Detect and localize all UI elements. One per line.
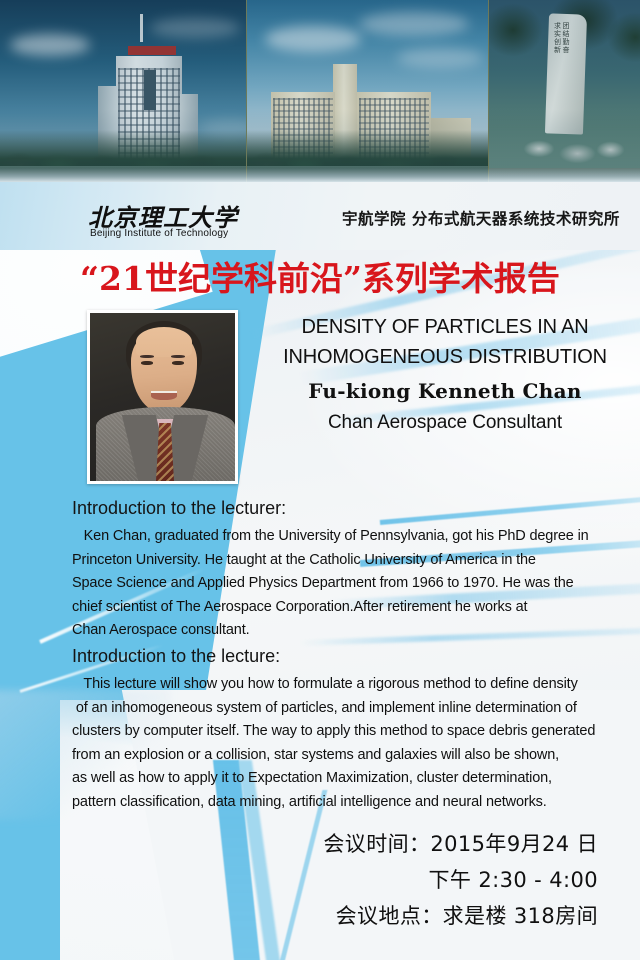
campus-photo-banner: 团结勤奋 求实创新 [0, 0, 640, 182]
block-annex [431, 118, 471, 174]
lecture-abstract-line: clusters by computer itself. The way to … [72, 720, 632, 744]
lecture-abstract-line: This lecture will show you how to formul… [72, 673, 632, 697]
portrait-forehead [136, 327, 192, 357]
series-title: “21世纪学科前沿”系列学术报告 [0, 252, 640, 300]
lecture-abstract-line: as well as how to apply it to Expectatio… [72, 767, 632, 791]
tower-wing-right [180, 94, 198, 172]
block-windows-left [273, 98, 333, 170]
pine-trees [489, 0, 640, 114]
teaching-block-center [333, 64, 357, 174]
lecture-introduction-section: Introduction to the lecture: This lectur… [72, 644, 632, 814]
lecturer-introduction-heading: Introduction to the lecturer: [72, 496, 632, 520]
meeting-location: 会议地点：求是楼 318房间 [323, 898, 598, 934]
tower-core-slot [144, 70, 156, 110]
speaker-affiliation: Chan Aerospace Consultant [250, 408, 640, 438]
lecturer-introduction-section: Introduction to the lecturer: Ken Chan, … [72, 496, 632, 643]
teaching-block-left-wing [271, 92, 335, 174]
lecturer-bio-line: Princeton University. He taught at the C… [72, 549, 632, 573]
block-windows-right [359, 98, 429, 170]
portrait-brow-right [171, 355, 185, 358]
speaker-portrait [87, 310, 238, 484]
teaching-block-right-wing [357, 92, 431, 174]
lecturer-bio-line: Space Science and Applied Physics Depart… [72, 572, 632, 596]
lecturer-bio-line: Chan Aerospace consultant. [72, 619, 632, 643]
cloud-icon [200, 120, 247, 136]
sky-background [247, 0, 488, 182]
lecture-abstract-line: from an explosion or a collision, star s… [72, 744, 632, 768]
campus-photo-teaching-block [247, 0, 489, 182]
university-name-en: Beijing Institute of Technology [90, 228, 228, 239]
lecture-introduction-heading: Introduction to the lecture: [72, 644, 632, 668]
portrait-smile [151, 391, 177, 400]
talk-title-block: DENSITY OF PARTICLES IN AN INHOMOGENEOUS… [250, 312, 640, 438]
sky-background [489, 0, 640, 182]
speaker-name: Fu-kiong Kenneth Chan [250, 374, 640, 408]
antenna-mast [140, 14, 143, 42]
meeting-details: 会议时间：2015年9月24 日 下午 2:30 - 4:00 会议地点：求是楼… [323, 826, 598, 934]
campus-photo-monument: 团结勤奋 求实创新 [489, 0, 640, 182]
lecture-abstract-line: pattern classification, data mining, art… [72, 791, 632, 815]
talk-title-line-1: DENSITY OF PARTICLES IN AN [250, 312, 640, 342]
lecturer-bio-line: chief scientist of The Aerospace Corpora… [72, 596, 632, 620]
motto-monument-stone [545, 13, 587, 134]
seminar-poster: 团结勤奋 求实创新 北京理工大学 BEIJING INSTITUTE OF TE… [0, 0, 640, 960]
talk-title-line-2: INHOMOGENEOUS DISTRIBUTION [250, 342, 640, 372]
cloud-icon [359, 12, 469, 36]
rock-base [517, 120, 627, 168]
meeting-time-range: 下午 2:30 - 4:00 [323, 862, 598, 898]
cloud-icon [150, 18, 240, 38]
lecture-abstract-line: of an inhomogeneous system of particles,… [72, 697, 632, 721]
portrait-eye-right [172, 361, 184, 365]
portrait-image [90, 313, 235, 481]
cloud-icon [10, 34, 90, 56]
cloud-icon [265, 26, 361, 52]
tower-windows [118, 68, 180, 168]
meeting-time: 会议时间：2015年9月24 日 [323, 826, 598, 862]
sky-background [0, 0, 246, 182]
cloud-icon [397, 48, 483, 68]
building-red-sign [128, 46, 176, 55]
monument-inscription: 团结勤奋 求实创新 [553, 22, 570, 108]
tower-body [116, 56, 182, 172]
banner-bottom-fade [0, 168, 640, 182]
portrait-eye-left [141, 361, 153, 365]
lecturer-bio-line: Ken Chan, graduated from the University … [72, 525, 632, 549]
department-name: 宇航学院 分布式航天器系统技术研究所 [342, 207, 620, 229]
tower-wing-left [98, 86, 118, 172]
portrait-brow-left [140, 355, 154, 358]
campus-photo-main-tower [0, 0, 247, 182]
